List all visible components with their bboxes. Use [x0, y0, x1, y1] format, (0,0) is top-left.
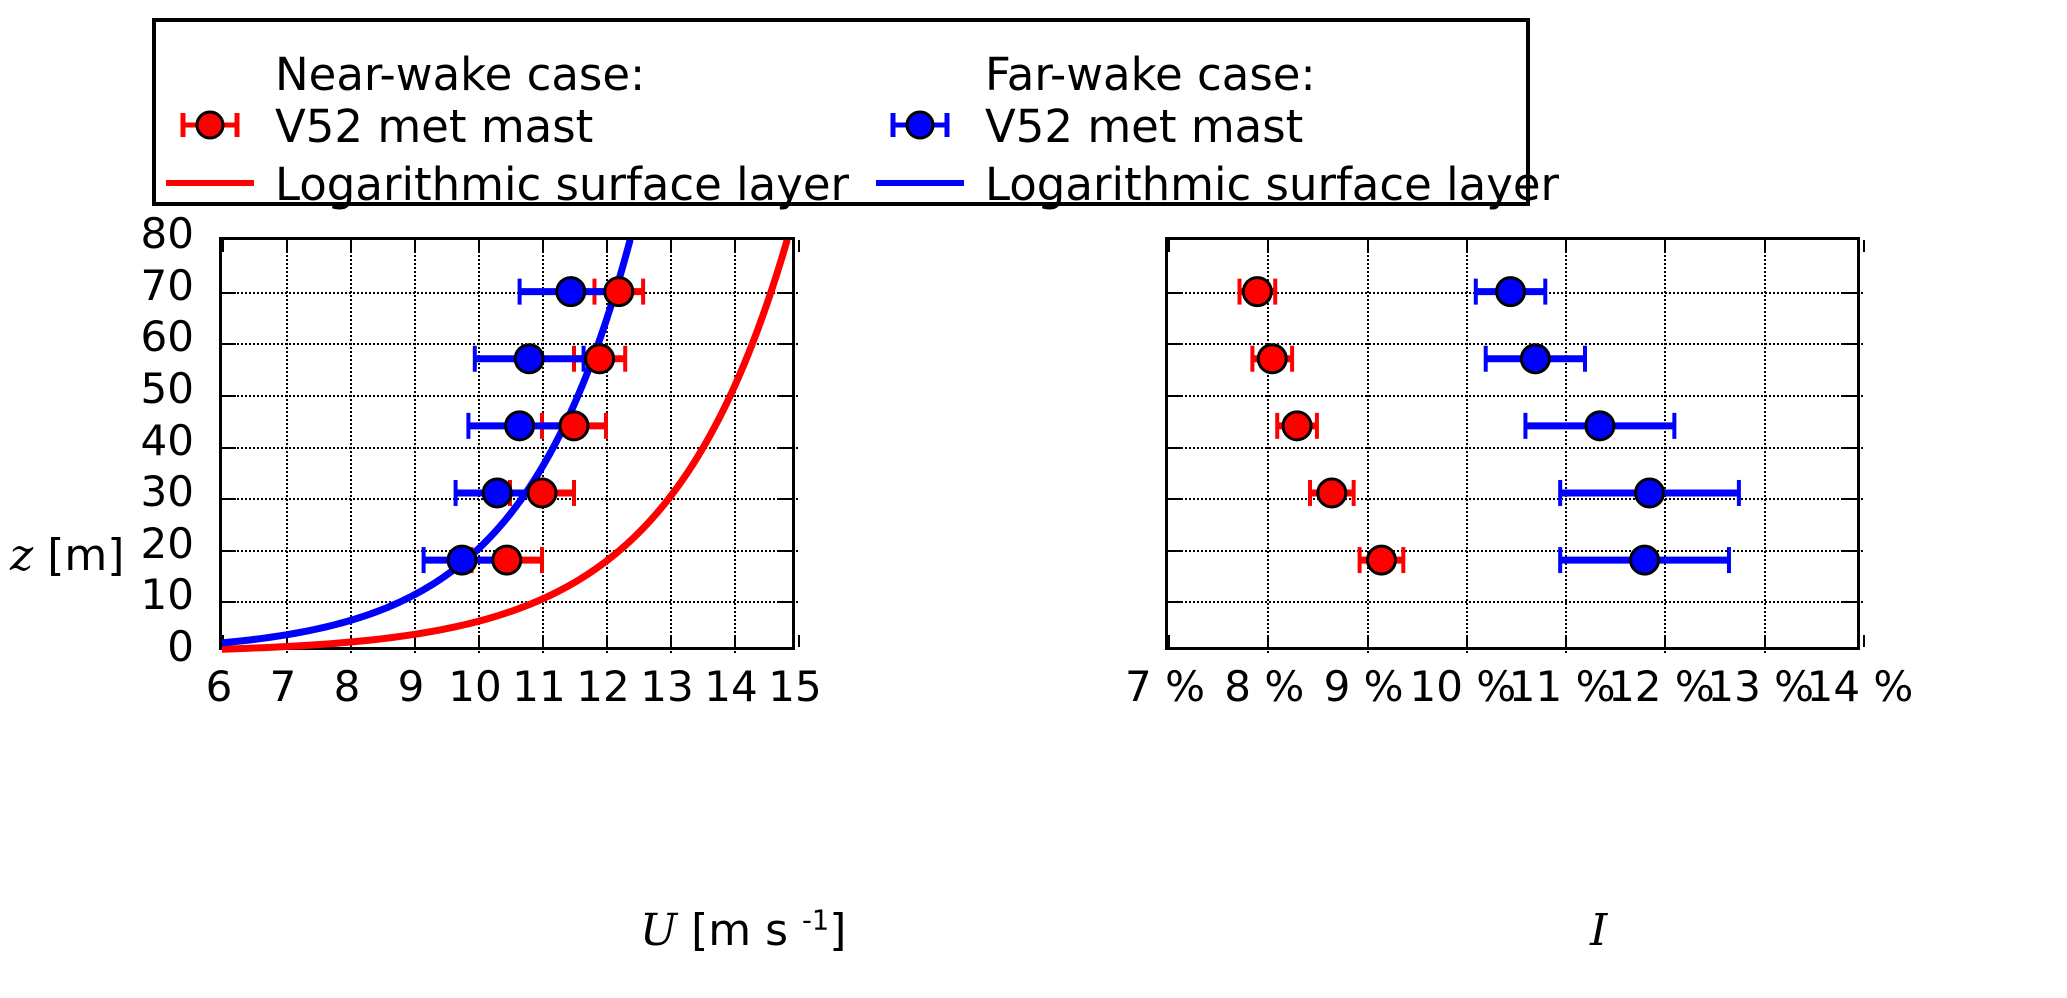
data-point-marker — [1636, 479, 1664, 507]
figure-root: Near-wake case:V52 met mastLogarithmic s… — [0, 0, 2067, 998]
data-point-marker — [1586, 412, 1614, 440]
x-axis-label: U [m s -1] — [640, 905, 846, 956]
legend-entry-label: V52 met mast — [985, 100, 1303, 153]
x-axis-label: I — [1590, 905, 1607, 956]
data-point-marker — [515, 345, 543, 373]
data-point-marker — [1243, 278, 1271, 306]
wind-speed-data-layer — [222, 240, 798, 653]
x-tick — [1863, 635, 1865, 647]
data-point-marker — [1258, 345, 1286, 373]
y-tick-label: 30 — [44, 467, 194, 516]
y-tick-label: 0 — [44, 622, 194, 671]
log-profile-curve — [188, 241, 787, 650]
legend-column-title: Far-wake case: — [985, 48, 1316, 101]
data-point-marker — [586, 345, 614, 373]
wind-speed-axes — [219, 237, 795, 650]
x-tick — [1863, 240, 1865, 252]
data-point-marker — [605, 278, 633, 306]
blue-errorbar-circle-icon — [860, 97, 980, 153]
data-point-marker — [1497, 278, 1525, 306]
x-tick-label: 14 % — [1790, 662, 1930, 711]
x-tick-label: 15 — [725, 662, 865, 711]
data-point-marker — [528, 479, 556, 507]
red-line-icon — [150, 155, 270, 211]
data-point-marker — [1318, 479, 1346, 507]
y-tick-label: 80 — [44, 209, 194, 258]
turbulence-intensity-data-layer — [1168, 240, 1863, 653]
data-point-marker — [560, 412, 588, 440]
data-point-marker — [448, 546, 476, 574]
x-tick — [798, 635, 800, 647]
legend-entry-label: Logarithmic surface layer — [985, 158, 1559, 211]
y-tick-label: 70 — [44, 261, 194, 310]
y-axis-label: z [m] — [10, 530, 124, 581]
data-point-marker — [1631, 546, 1659, 574]
y-tick-label: 50 — [44, 364, 194, 413]
legend-column-title: Near-wake case: — [275, 48, 645, 101]
data-point-marker — [506, 412, 534, 440]
x-tick — [798, 240, 800, 252]
red-errorbar-circle-icon — [150, 97, 270, 153]
y-tick-label: 60 — [44, 312, 194, 361]
data-point-marker — [483, 479, 511, 507]
data-point-marker — [1367, 546, 1395, 574]
data-point-marker — [493, 546, 521, 574]
y-tick-label: 40 — [44, 416, 194, 465]
blue-line-icon — [860, 155, 980, 211]
turbulence-intensity-axes — [1165, 237, 1860, 650]
legend-entry-label: Logarithmic surface layer — [275, 158, 849, 211]
data-point-marker — [557, 278, 585, 306]
data-point-marker — [1283, 412, 1311, 440]
data-point-marker — [1521, 345, 1549, 373]
legend-entry-label: V52 met mast — [275, 100, 593, 153]
